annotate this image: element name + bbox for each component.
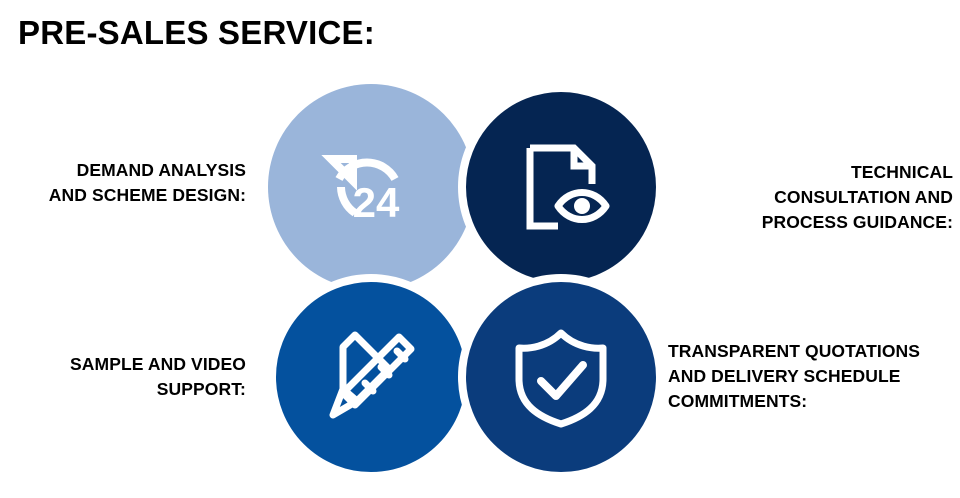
- label-line: AND SCHEME DESIGN:: [16, 183, 246, 208]
- label-line: COMMITMENTS:: [668, 389, 960, 414]
- label-line: SAMPLE AND VIDEO: [16, 352, 246, 377]
- label-line: DEMAND ANALYSIS: [16, 158, 246, 183]
- 24-hour-rotate-icon: 24: [319, 135, 423, 239]
- label-line: AND DELIVERY SCHEDULE: [668, 364, 960, 389]
- circle-transparent-quotations[interactable]: [458, 274, 664, 480]
- circle-demand-analysis[interactable]: 24: [268, 84, 474, 290]
- circle-cluster: 24: [268, 84, 668, 484]
- label-transparent-quotations: TRANSPARENT QUOTATIONS AND DELIVERY SCHE…: [668, 339, 960, 414]
- label-line: PROCESS GUIDANCE:: [727, 210, 953, 235]
- circle-sample-video-support[interactable]: [268, 274, 474, 480]
- circle-technical-consultation[interactable]: [458, 84, 664, 290]
- label-technical-consultation: TECHNICAL CONSULTATION AND PROCESS GUIDA…: [727, 160, 953, 235]
- label-sample-video-support: SAMPLE AND VIDEO SUPPORT:: [16, 352, 246, 402]
- pencil-ruler-cross-icon: [319, 325, 423, 429]
- document-eye-icon: [512, 138, 610, 236]
- svg-text:24: 24: [353, 179, 400, 226]
- label-demand-analysis: DEMAND ANALYSIS AND SCHEME DESIGN:: [16, 158, 246, 208]
- shield-check-icon: [511, 325, 611, 429]
- label-line: TRANSPARENT QUOTATIONS: [668, 339, 960, 364]
- label-line: SUPPORT:: [16, 377, 246, 402]
- label-line: TECHNICAL: [727, 160, 953, 185]
- label-line: CONSULTATION AND: [727, 185, 953, 210]
- page-title: PRE-SALES SERVICE:: [18, 12, 375, 54]
